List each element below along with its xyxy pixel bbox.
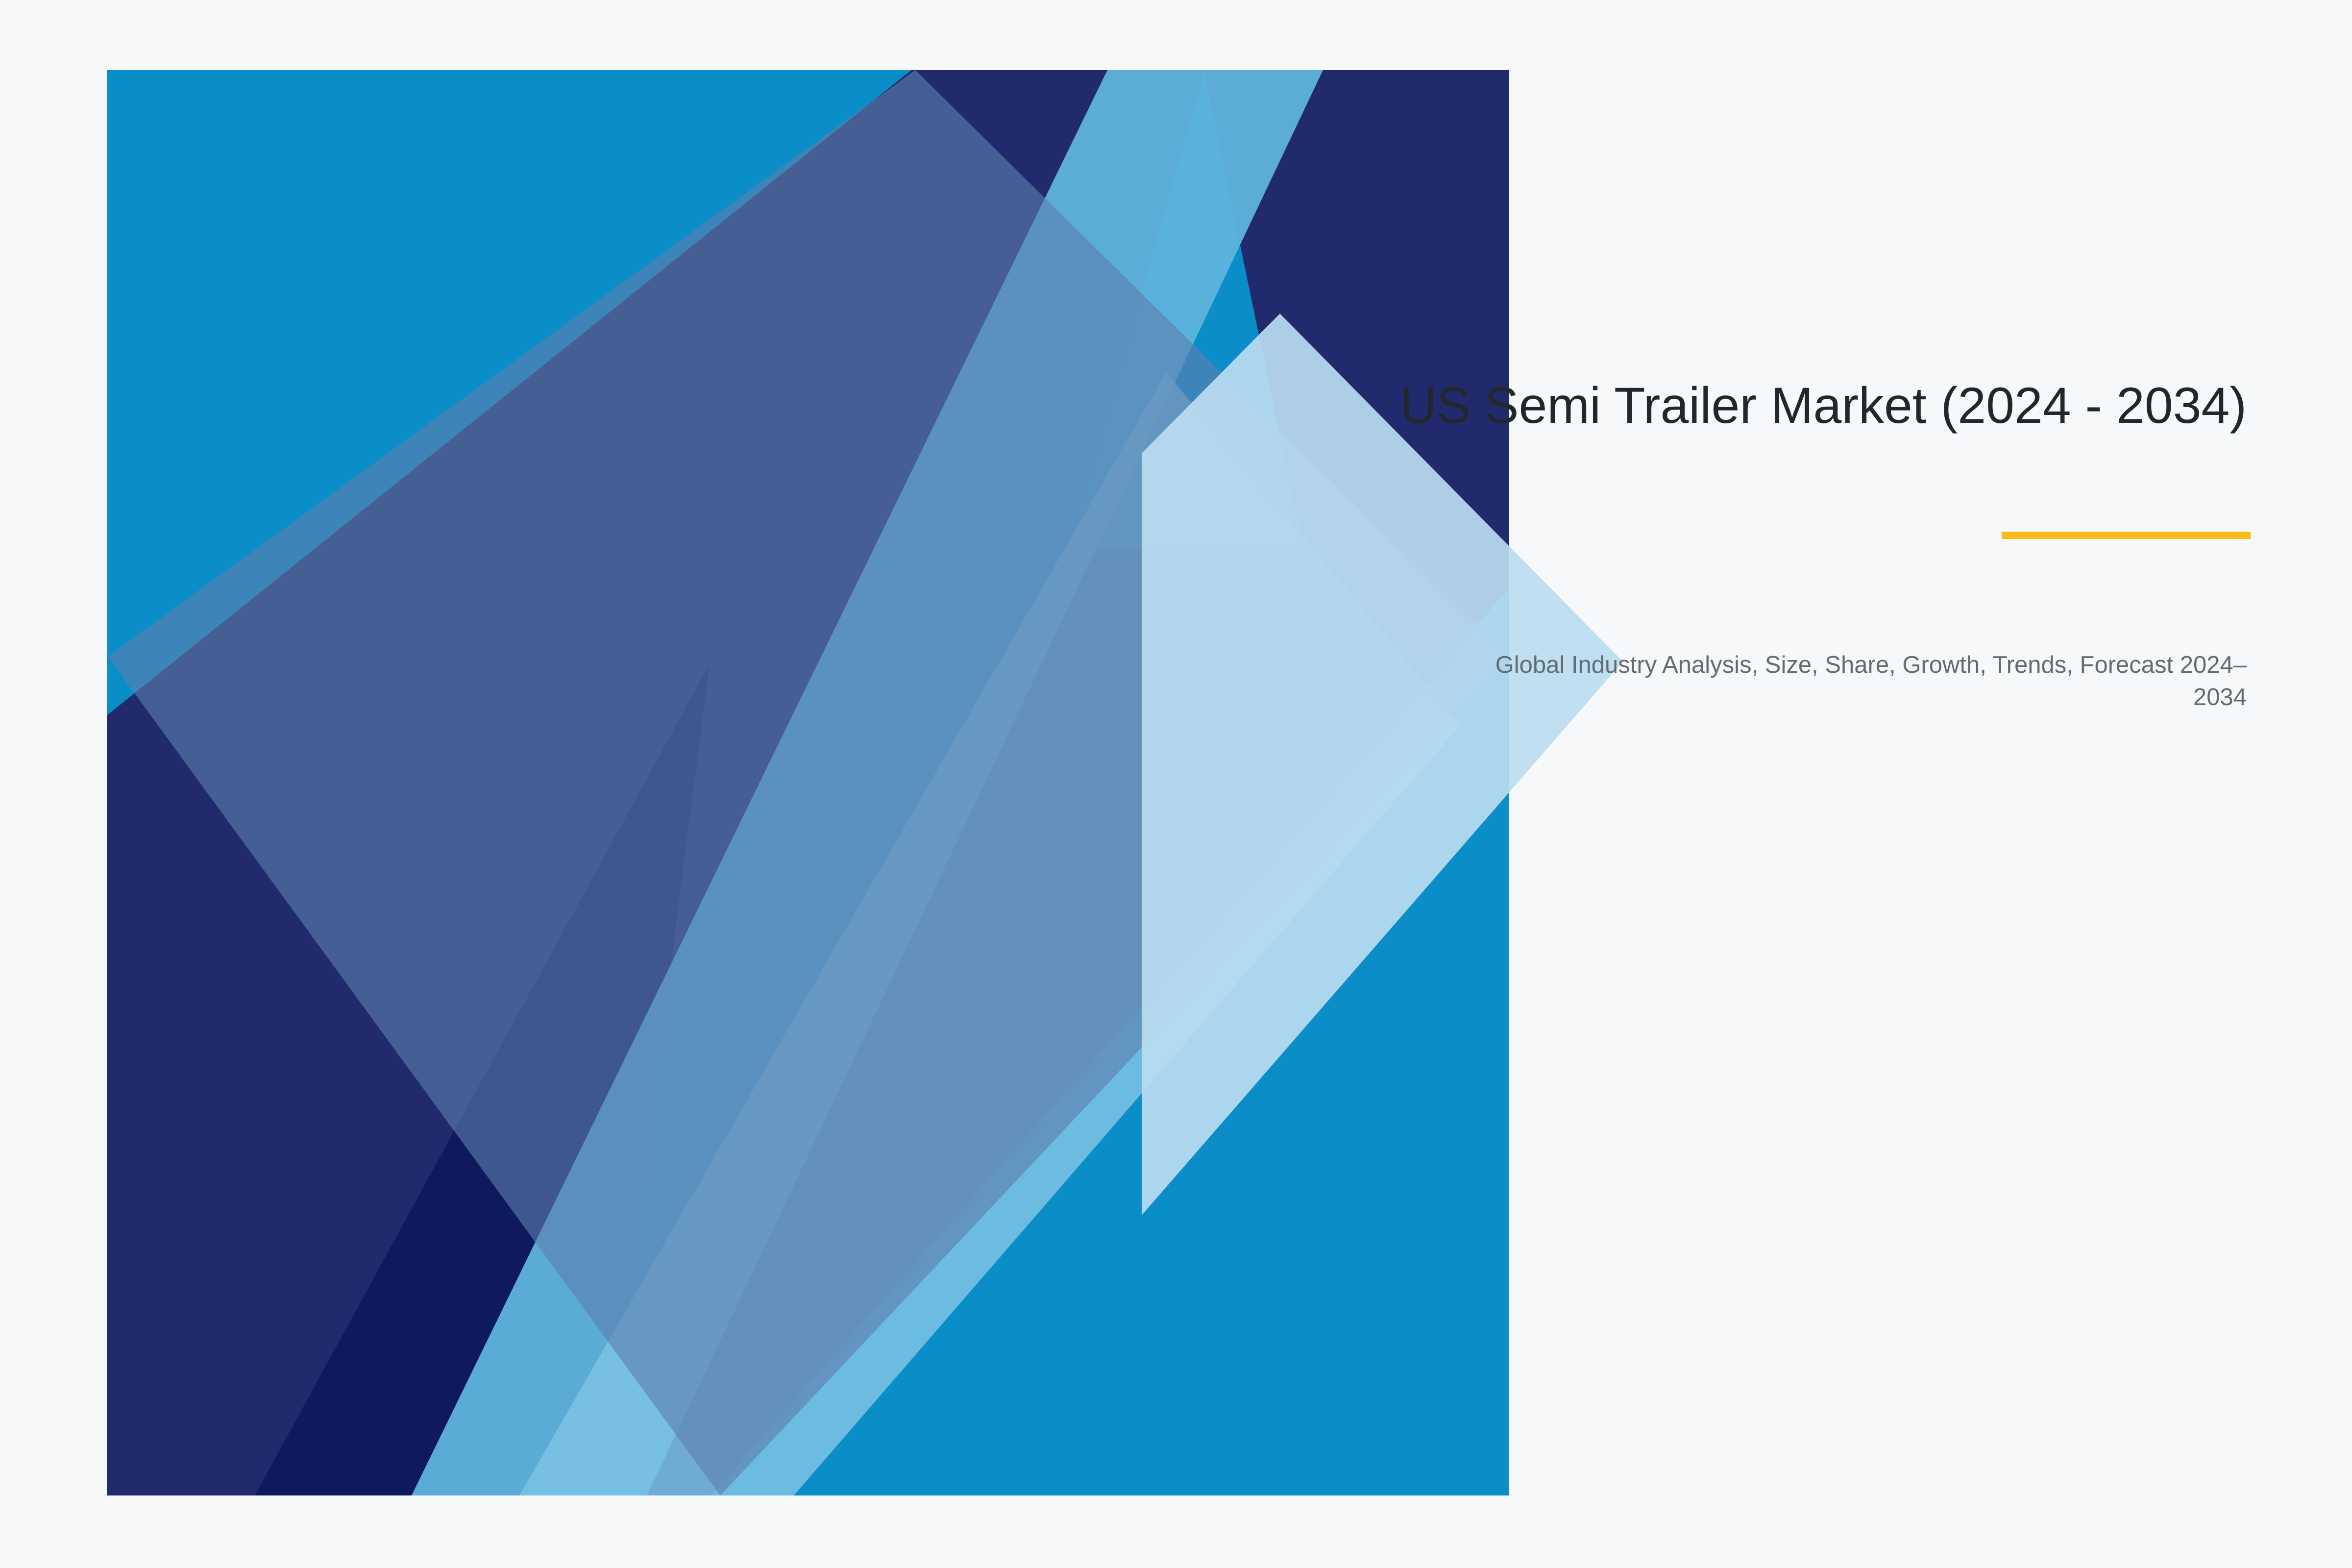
subtitle-block: Global Industry Analysis, Size, Share, G… (1463, 649, 2247, 713)
title-block: US Semi Trailer Market (2024 - 2034) (1117, 372, 2247, 440)
abstract-polygon-artwork (0, 0, 2352, 1568)
title-wrapper: US Semi Trailer Market (2024 - 2034) (1117, 372, 2247, 440)
title-accent-bar (2002, 532, 2251, 539)
page-subtitle: Global Industry Analysis, Size, Share, G… (1463, 649, 2247, 713)
report-cover: US Semi Trailer Market (2024 - 2034) Glo… (0, 0, 2352, 1568)
page-title: US Semi Trailer Market (2024 - 2034) (1117, 372, 2247, 440)
